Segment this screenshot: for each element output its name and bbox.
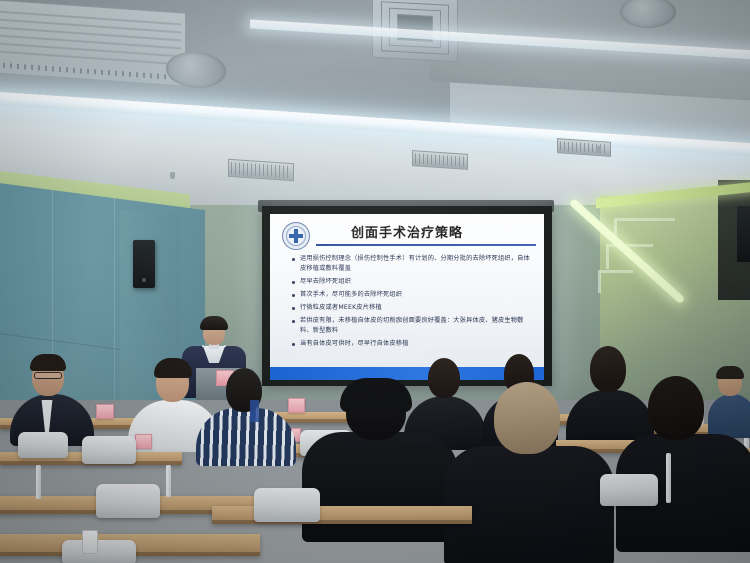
- attendee-dark-coat-edge: [616, 376, 750, 536]
- bullet-dot-icon: [292, 294, 295, 297]
- ceiling-grille-vent-icon: [0, 0, 186, 87]
- slide-bullet-item: 尽早去除坏死组织: [286, 277, 536, 287]
- slide-bullet-text: 行微粒皮或者MEEK皮片移植: [300, 303, 382, 313]
- attendee-torso: [444, 446, 614, 563]
- slide-bullet-item: 行微粒皮或者MEEK皮片移植: [286, 303, 536, 313]
- conference-room-photo: 创面手术治疗策略 运用损伤控制理念（损伤控制性手术）有计划的、分期分批的去除坏死…: [0, 0, 750, 563]
- attendee-black-hoodie-cap: [302, 372, 452, 522]
- slide-bullet-item: 若供皮有限，未移植自体皮的切削痂创面要良好覆盖：大张异体皮、猪皮生物敷料、新型敷…: [286, 316, 536, 335]
- slide-bullet-text: 首次手术，尽可能多的去除坏死组织: [300, 290, 402, 300]
- slide-bullet-item: 运用损伤控制理念（损伤控制性手术）有计划的、分期分批的去除坏死组织，自体皮移植或…: [286, 254, 536, 273]
- paper-cup: [82, 530, 98, 554]
- bullet-dot-icon: [292, 320, 295, 323]
- attendee-torso: [196, 408, 296, 466]
- bullet-dot-icon: [292, 258, 295, 261]
- slide-bullet-item: 首次手术，尽可能多的去除坏死组织: [286, 290, 536, 300]
- slide-title-rule: [316, 244, 536, 246]
- chair[interactable]: [82, 436, 136, 464]
- table-leg: [666, 453, 671, 503]
- lanyard: [250, 400, 259, 422]
- wall-speaker-icon: [737, 206, 750, 262]
- chair[interactable]: [254, 488, 320, 522]
- attendee-hair: [30, 354, 66, 371]
- bullet-dot-icon: [292, 307, 295, 310]
- table-leg: [166, 465, 171, 497]
- chair[interactable]: [96, 484, 160, 518]
- ceiling-sprinkler-icon: [170, 172, 175, 179]
- attendee-striped-shirt: [196, 366, 292, 460]
- slide-bullet-list: 运用损伤控制理念（损伤控制性手术）有计划的、分期分批的去除坏死组织，自体皮移植或…: [286, 254, 536, 352]
- slide-title: 创面手术治疗策略: [270, 222, 544, 241]
- presenter-hair: [200, 316, 228, 330]
- attendee-hair: [154, 358, 192, 378]
- slide-bullet-item: 当有自体皮可供时，尽早行自体皮移植: [286, 339, 536, 349]
- attendee-torso: [302, 432, 458, 542]
- attendee-suit-glasses: [10, 356, 90, 436]
- table-row: [212, 506, 472, 524]
- chair[interactable]: [62, 540, 136, 563]
- bullet-dot-icon: [292, 281, 295, 284]
- slide-bullet-text: 若供皮有限，未移植自体皮的切削痂创面要良好覆盖：大张异体皮、猪皮生物敷料、新型敷…: [300, 316, 536, 335]
- slide-bullet-text: 运用损伤控制理念（损伤控制性手术）有计划的、分期分批的去除坏死组织，自体皮移植或…: [300, 254, 536, 273]
- name-card: [135, 434, 152, 449]
- chair[interactable]: [18, 432, 68, 458]
- name-card: [96, 404, 114, 419]
- slide-bullet-text: 尽早去除坏死组织: [300, 277, 351, 287]
- attendee-head: [494, 382, 560, 454]
- slide-bullet-text: 当有自体皮可供时，尽早行自体皮移植: [300, 339, 409, 349]
- table-leg: [36, 465, 41, 499]
- attendee-bald-dark-coat: [444, 380, 608, 550]
- glasses-icon: [34, 372, 62, 379]
- cap-icon: [340, 378, 412, 412]
- attendee-head: [648, 376, 704, 440]
- bullet-dot-icon: [292, 343, 295, 346]
- chair[interactable]: [600, 474, 658, 506]
- wall-speaker-icon: [133, 240, 155, 288]
- ceiling-sprinkler-icon: [596, 146, 601, 153]
